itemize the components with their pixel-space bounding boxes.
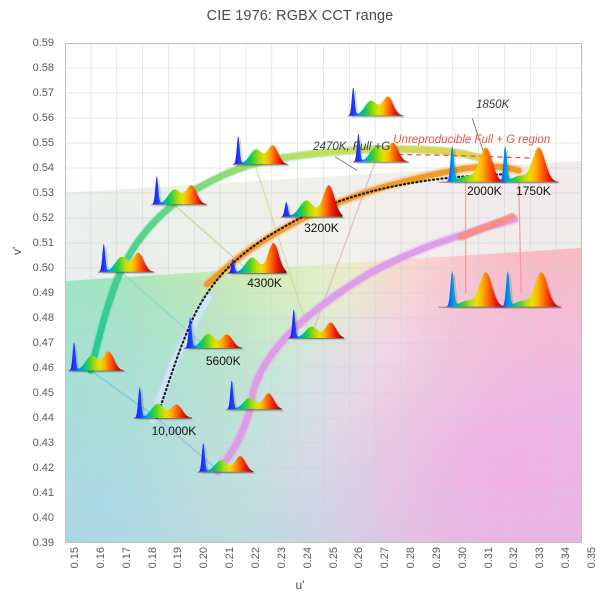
x-tick-label: 0.16 (95, 547, 107, 568)
chart-canvas (65, 43, 582, 543)
chart-annotation: 1850K (476, 99, 509, 111)
x-tick-label: 0.22 (250, 547, 262, 568)
chart-annotation: Unreproducible Full + G region (393, 134, 550, 146)
y-axis-tick-labels: 0.590.580.570.560.550.540.530.520.510.50… (0, 43, 58, 543)
cct-label: 4300K (247, 276, 282, 290)
cct-label: 3200K (304, 221, 339, 235)
y-tick-label: 0.53 (33, 187, 54, 199)
y-tick-label: 0.56 (33, 112, 54, 124)
x-tick-label: 0.30 (457, 547, 469, 568)
x-tick-label: 0.34 (560, 547, 572, 568)
x-tick-label: 0.28 (405, 547, 417, 568)
y-tick-label: 0.44 (33, 412, 54, 424)
y-tick-label: 0.42 (33, 462, 54, 474)
y-tick-label: 0.59 (33, 37, 54, 49)
chart-root: CIE 1976: RGBX CCT range v' u' 0.590.580… (0, 0, 600, 598)
x-tick-label: 0.31 (483, 547, 495, 568)
cct-label: 2000K (467, 184, 502, 198)
x-tick-label: 0.19 (172, 547, 184, 568)
x-tick-label: 0.15 (69, 547, 81, 568)
y-tick-label: 0.46 (33, 362, 54, 374)
y-tick-label: 0.48 (33, 312, 54, 324)
x-axis-tick-labels: 0.150.160.170.180.190.200.210.220.230.24… (65, 547, 582, 592)
y-tick-label: 0.52 (33, 212, 54, 224)
y-tick-label: 0.50 (33, 262, 54, 274)
x-tick-label: 0.25 (328, 547, 340, 568)
x-tick-label: 0.20 (198, 547, 210, 568)
y-tick-label: 0.45 (33, 387, 54, 399)
cct-label: 5600K (206, 354, 241, 368)
page-title: CIE 1976: RGBX CCT range (0, 8, 600, 24)
x-tick-label: 0.29 (431, 547, 443, 568)
cct-label: 10,000K (152, 424, 197, 438)
y-tick-label: 0.40 (33, 512, 54, 524)
chart-annotation: 2470K, Full +G (313, 141, 390, 153)
cct-label: 1750K (516, 184, 551, 198)
y-tick-label: 0.41 (33, 487, 54, 499)
x-tick-label: 0.27 (379, 547, 391, 568)
y-tick-label: 0.47 (33, 337, 54, 349)
plot-area: 2470K, Full +G1850KUnreproducible Full +… (65, 43, 582, 543)
y-tick-label: 0.51 (33, 237, 54, 249)
y-tick-label: 0.43 (33, 437, 54, 449)
y-tick-label: 0.58 (33, 62, 54, 74)
y-tick-label: 0.39 (33, 537, 54, 549)
x-tick-label: 0.26 (353, 547, 365, 568)
y-tick-label: 0.49 (33, 287, 54, 299)
x-tick-label: 0.18 (147, 547, 159, 568)
x-tick-label: 0.32 (508, 547, 520, 568)
x-tick-label: 0.23 (276, 547, 288, 568)
x-tick-label: 0.35 (586, 547, 598, 568)
y-tick-label: 0.57 (33, 87, 54, 99)
y-tick-label: 0.55 (33, 137, 54, 149)
y-tick-label: 0.54 (33, 162, 54, 174)
x-tick-label: 0.33 (534, 547, 546, 568)
x-tick-label: 0.21 (224, 547, 236, 568)
x-tick-label: 0.24 (302, 547, 314, 568)
x-tick-label: 0.17 (121, 547, 133, 568)
